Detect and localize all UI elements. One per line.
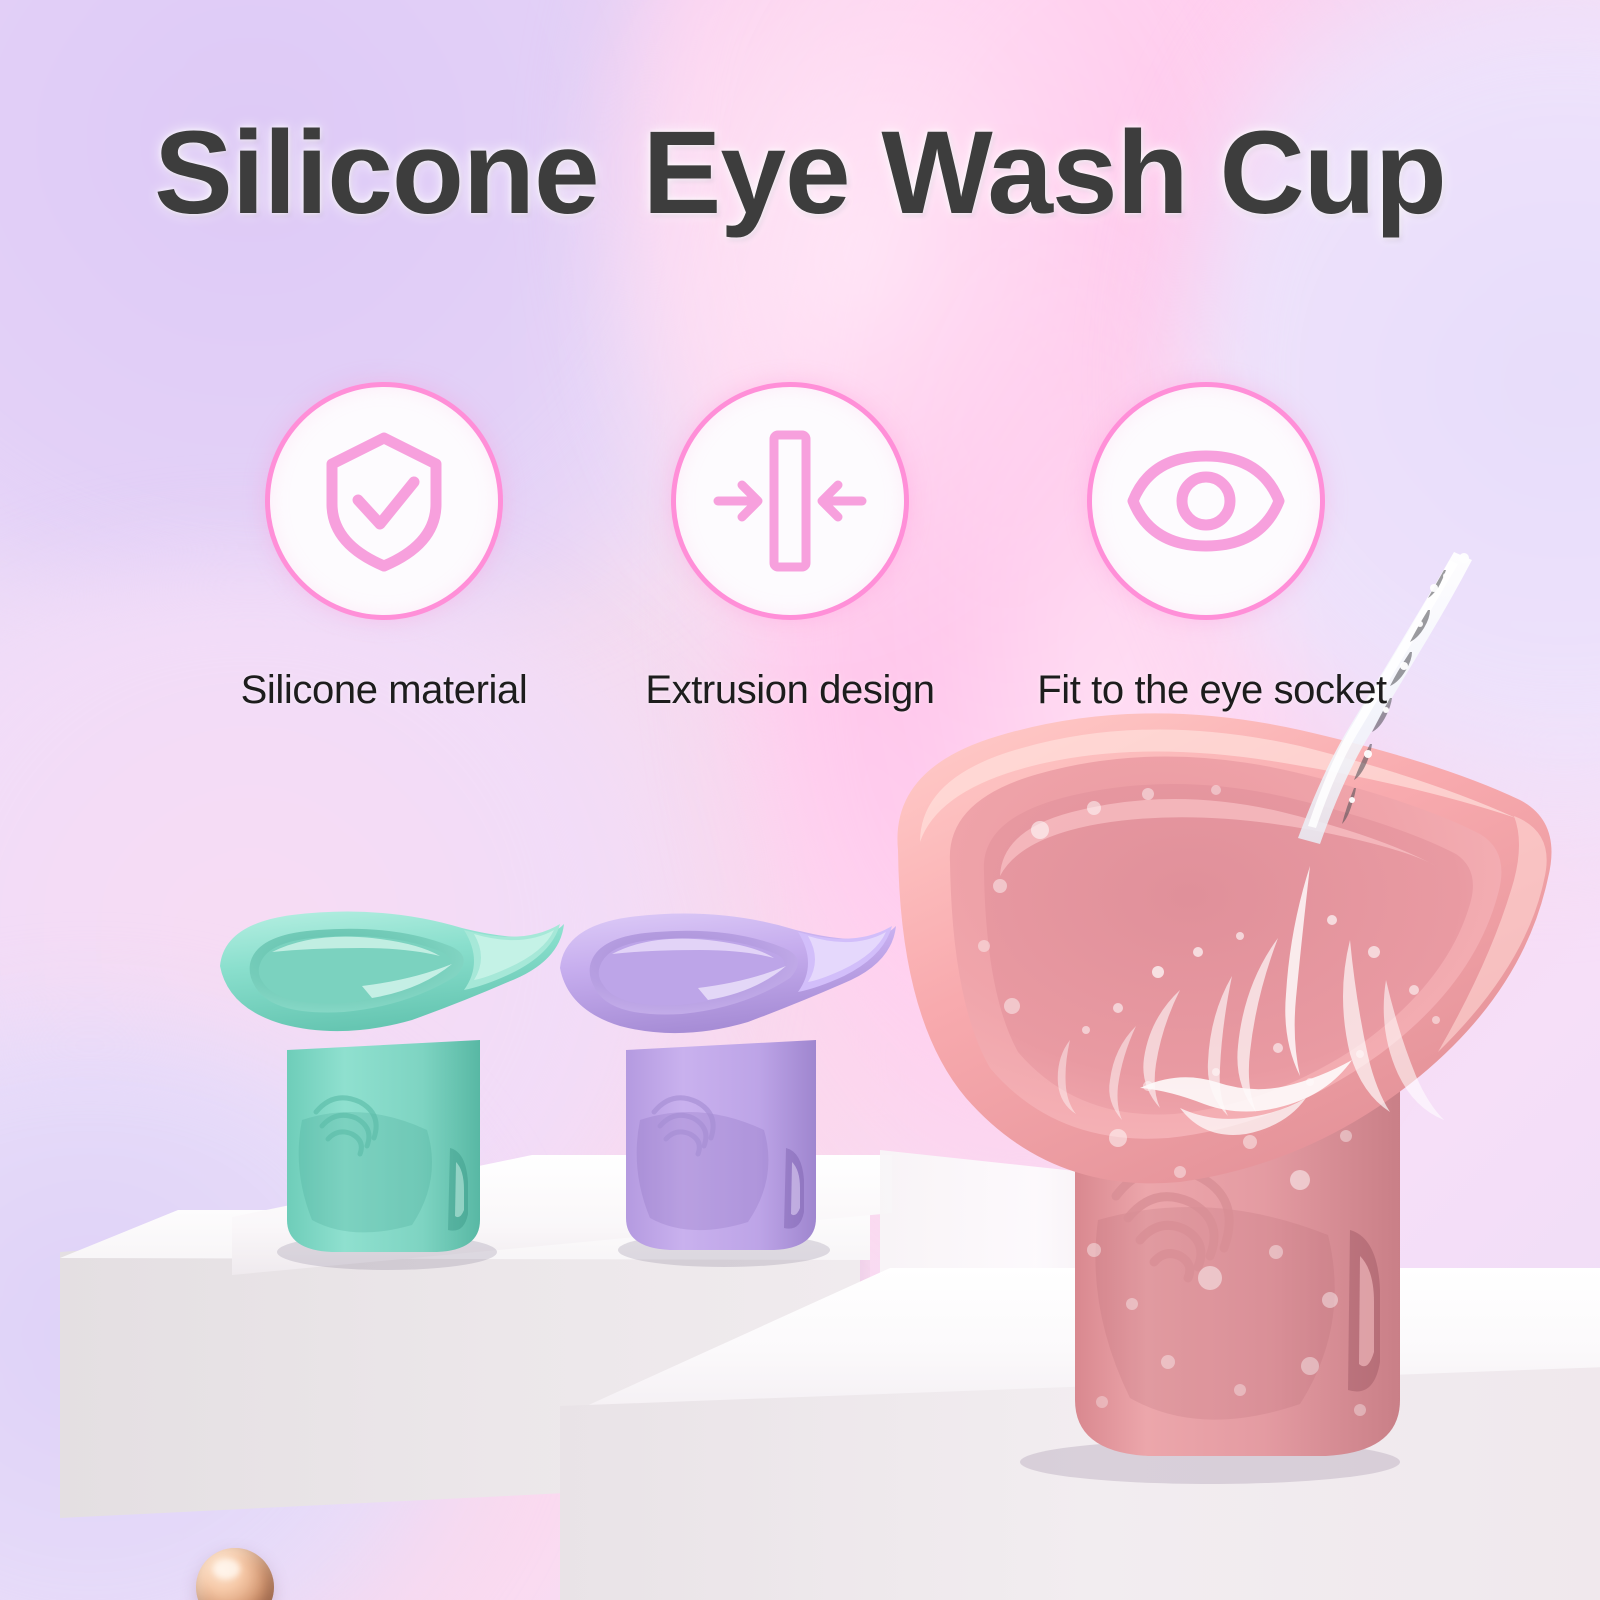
page-title-part2: Eye Wash Cup [643, 107, 1446, 239]
page-title-part1: Silicone [154, 107, 598, 239]
feature-label: Silicone material [194, 668, 574, 713]
feature-icon-circle [265, 382, 503, 620]
feature-icon-circle [671, 382, 909, 620]
feature-item-silicone-material: Silicone material [194, 382, 574, 713]
feature-icon-circle [1087, 382, 1325, 620]
feature-item-extrusion-design: Extrusion design [600, 382, 980, 713]
eye-icon [1125, 446, 1287, 556]
feature-label: Fit to the eye socket [1028, 668, 1396, 713]
shield-check-icon [314, 426, 454, 576]
feature-list: Silicone material Extrusion de [0, 382, 1600, 752]
product-cup-purple [552, 892, 902, 1267]
page-title: SiliconeEye Wash Cup [0, 112, 1600, 236]
product-cup-mint [212, 890, 572, 1270]
compression-arrows-icon [712, 427, 868, 575]
feature-label: Extrusion design [600, 668, 980, 713]
product-banner: SiliconeEye Wash Cup Silicone material [0, 0, 1600, 1600]
feature-item-fit-eye-socket: Fit to the eye socket [1016, 382, 1396, 713]
